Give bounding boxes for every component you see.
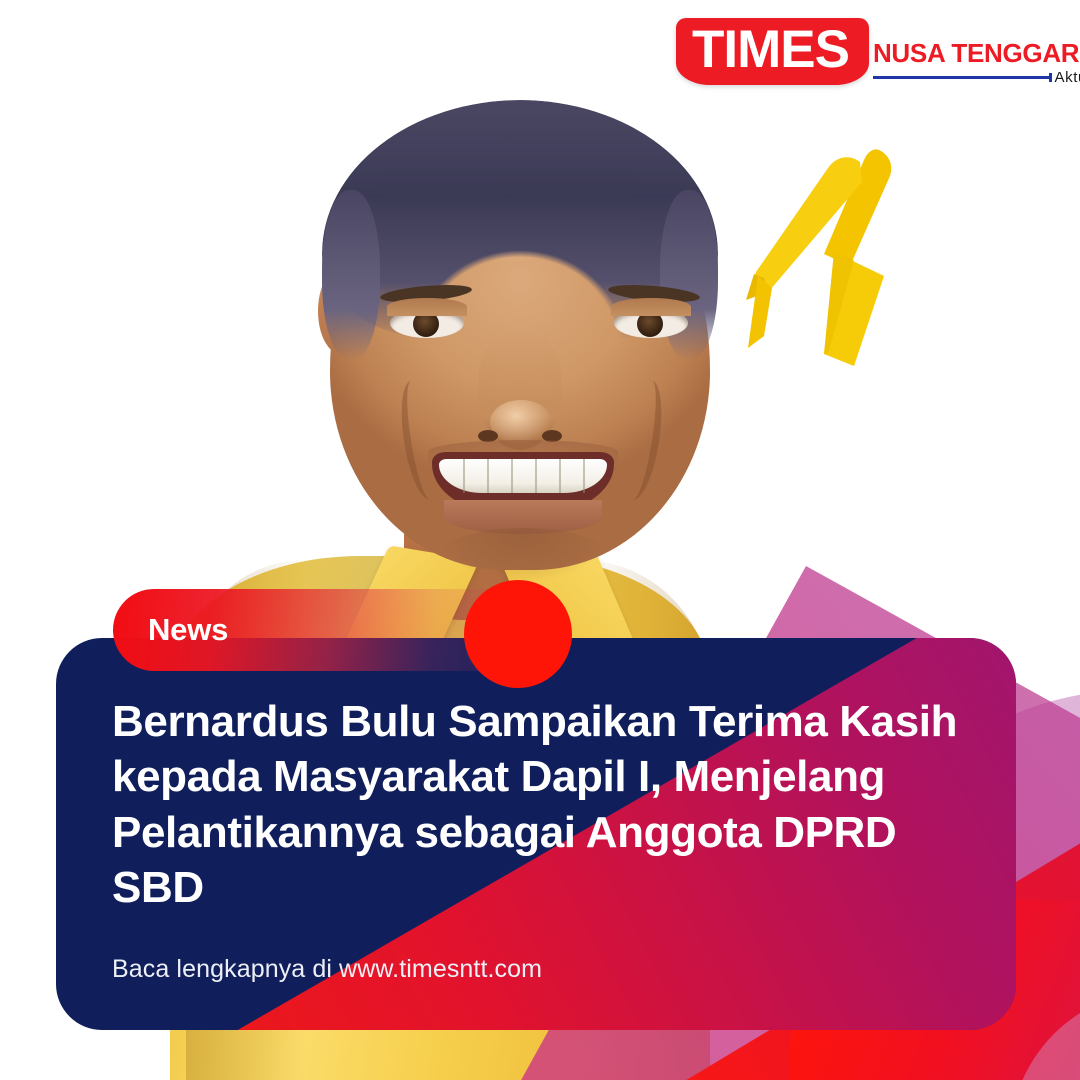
logo-badge: TIMES — [676, 18, 869, 85]
logo-tagline-text: Aktual Terpercaya — [1052, 69, 1080, 86]
logo-rule — [873, 76, 1052, 79]
tooth-gap — [535, 459, 537, 493]
news-category-label: News — [148, 612, 228, 648]
social-media-poster: TIMES NUSA TENGGARA TIMUR Aktual Terperc… — [0, 0, 1080, 1080]
tooth-gap — [487, 459, 489, 493]
yellow-ribbon-icon — [738, 148, 908, 368]
tooth-gap — [511, 459, 513, 493]
tooth-gap — [463, 459, 465, 493]
hair-side-left — [322, 190, 380, 360]
times-logo[interactable]: TIMES NUSA TENGGARA TIMUR Aktual Terperc… — [676, 18, 1080, 86]
news-card: Bernardus Bulu Sampaikan Terima Kasih ke… — [56, 638, 1016, 1030]
tooth-gap — [583, 459, 585, 493]
logo-region-text: NUSA TENGGARA TIMUR — [873, 40, 1080, 66]
chin-shadow — [440, 528, 606, 582]
decor-red-circle — [464, 580, 572, 688]
read-more-text[interactable]: Baca lengkapnya di www.timesntt.com — [112, 955, 542, 984]
eyelid-left — [387, 298, 467, 316]
eyelid-right — [611, 298, 691, 316]
logo-tagline-row: Aktual Terpercaya — [873, 69, 1080, 86]
headline: Bernardus Bulu Sampaikan Terima Kasih ke… — [112, 694, 976, 916]
logo-region-block: NUSA TENGGARA TIMUR Aktual Terpercaya — [873, 40, 1080, 86]
logo-wordmark: TIMES — [692, 22, 849, 77]
tooth-gap — [559, 459, 561, 493]
teeth — [439, 459, 607, 493]
